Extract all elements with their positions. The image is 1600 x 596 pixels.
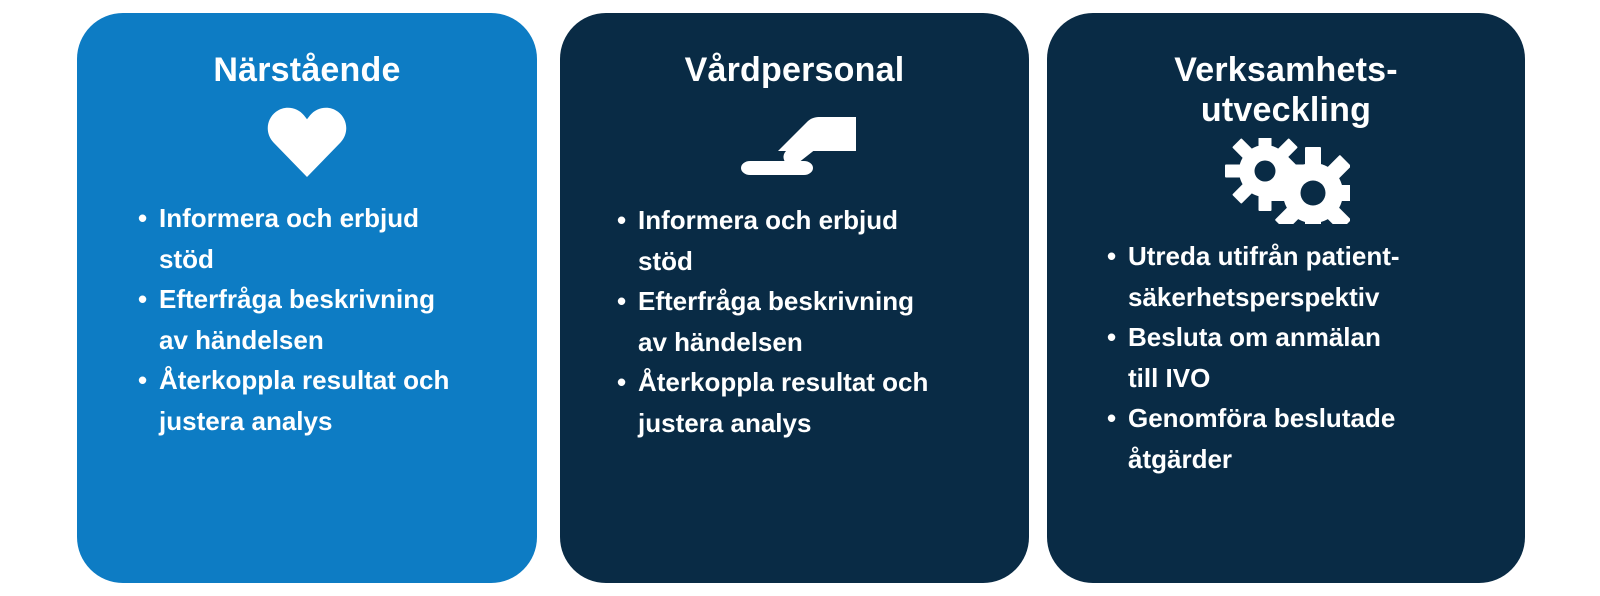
list-item-line: Utreda utifrån patient-: [1128, 236, 1477, 277]
bullet-list: Informera och erbjud stöd Efterfråga bes…: [617, 200, 977, 443]
gears-icon: [1222, 138, 1350, 224]
card-board: Närstående Informera och erbjud stöd Eft…: [0, 0, 1600, 596]
list-item-line: Informera och erbjud: [638, 200, 977, 241]
list-item-line: av händelsen: [638, 322, 977, 363]
list-item: Informera och erbjud stöd: [138, 198, 488, 279]
list-item-line: stöd: [159, 239, 488, 280]
list-item-line: justera analys: [638, 403, 977, 444]
list-item-line: åtgärder: [1128, 439, 1477, 480]
list-item-line: säkerhetsperspektiv: [1128, 277, 1477, 318]
bullet-list: Utreda utifrån patient- säkerhetsperspek…: [1107, 236, 1477, 479]
heart-icon: [267, 106, 347, 178]
list-item-line: Efterfråga beskrivning: [159, 279, 488, 320]
gears-icon-wrapper: [1047, 130, 1525, 224]
list-item-line: av händelsen: [159, 320, 488, 361]
list-item: Efterfråga beskrivning av händelsen: [617, 281, 977, 362]
card-narstaende: Närstående Informera och erbjud stöd Eft…: [77, 13, 537, 583]
heart-icon-wrapper: [77, 90, 537, 184]
card-title: Verksamhets- utveckling: [1047, 13, 1525, 130]
list-item-line: stöd: [638, 241, 977, 282]
card-title: Vårdpersonal: [560, 13, 1029, 90]
list-item-line: Besluta om anmälan: [1128, 317, 1477, 358]
list-item-line: Återkoppla resultat och: [638, 362, 977, 403]
list-item: Återkoppla resultat och justera analys: [138, 360, 488, 441]
bullet-list: Informera och erbjud stöd Efterfråga bes…: [138, 198, 488, 441]
card-verksamhetsutveckling: Verksamhets- utveckling: [1047, 13, 1525, 583]
helping-hand-icon-wrapper: [560, 90, 1029, 186]
card-title-line: Verksamhets-: [1047, 50, 1525, 90]
list-item: Efterfråga beskrivning av händelsen: [138, 279, 488, 360]
list-item: Genomföra beslutade åtgärder: [1107, 398, 1477, 479]
list-item-line: till IVO: [1128, 358, 1477, 399]
list-item-line: Genomföra beslutade: [1128, 398, 1477, 439]
card-vardpersonal: Vårdpersonal Informera och erbjud stöd: [560, 13, 1029, 583]
card-title: Närstående: [77, 13, 537, 90]
list-item-line: Efterfråga beskrivning: [638, 281, 977, 322]
list-item-line: Informera och erbjud: [159, 198, 488, 239]
card-title-line: utveckling: [1047, 90, 1525, 130]
helping-hand-icon: [734, 113, 856, 175]
list-item: Utreda utifrån patient- säkerhetsperspek…: [1107, 236, 1477, 317]
list-item-line: justera analys: [159, 401, 488, 442]
list-item: Återkoppla resultat och justera analys: [617, 362, 977, 443]
list-item: Besluta om anmälan till IVO: [1107, 317, 1477, 398]
list-item-line: Återkoppla resultat och: [159, 360, 488, 401]
list-item: Informera och erbjud stöd: [617, 200, 977, 281]
